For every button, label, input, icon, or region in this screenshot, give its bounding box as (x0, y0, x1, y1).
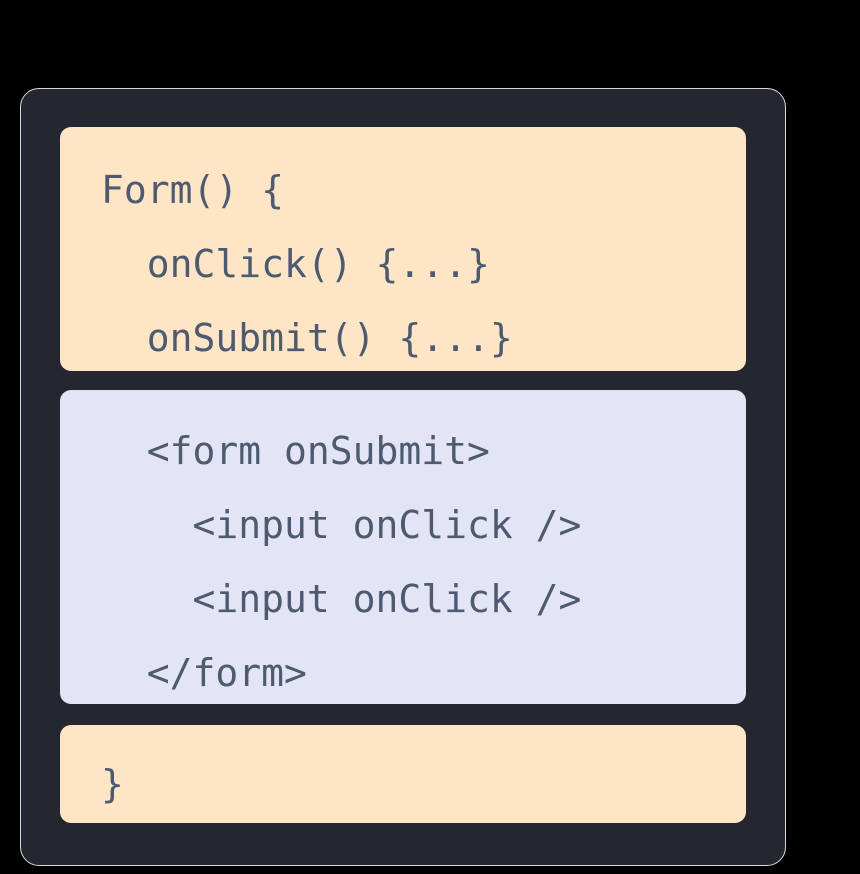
code-line: } (101, 747, 736, 821)
code-line: Form() { (101, 153, 736, 227)
code-card: Form() { onClick() {...} onSubmit() {...… (20, 88, 786, 866)
code-line: <input onClick /> (101, 488, 736, 562)
code-block-close: } (60, 725, 746, 823)
code-block-signature: Form() { onClick() {...} onSubmit() {...… (60, 127, 746, 371)
code-line: <form onSubmit> (101, 414, 736, 488)
code-block-markup: <form onSubmit> <input onClick /> <input… (60, 390, 746, 704)
diagram-canvas: Form() { onClick() {...} onSubmit() {...… (0, 0, 860, 874)
code-line: onClick() {...} (101, 227, 736, 301)
code-line: <input onClick /> (101, 562, 736, 636)
code-line: onSubmit() {...} (101, 301, 736, 371)
code-line: </form> (101, 636, 736, 704)
